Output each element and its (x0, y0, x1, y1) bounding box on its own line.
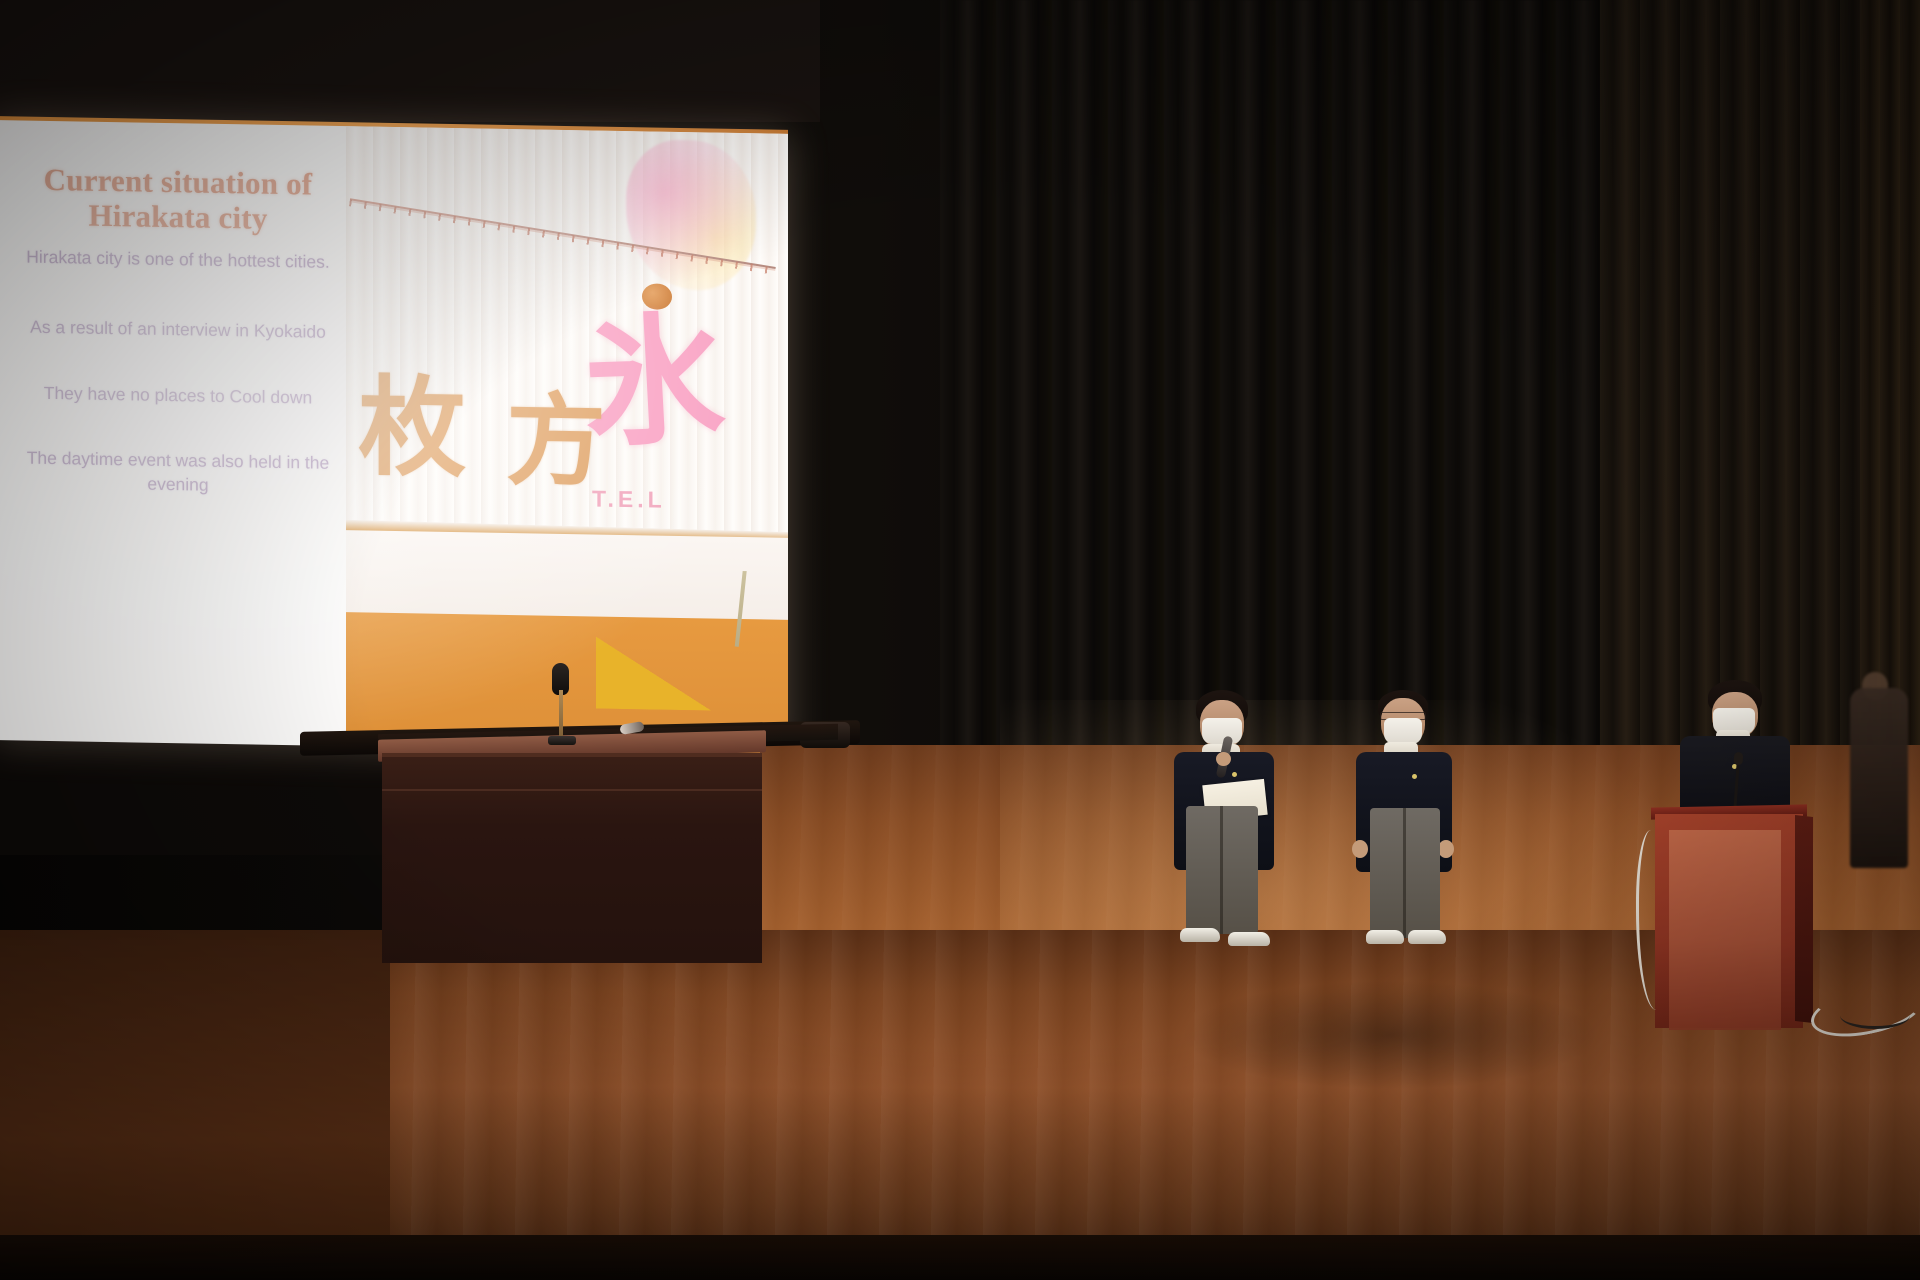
lapel-badge (1412, 774, 1417, 779)
slide-paragraph-2: As a result of an interview in Kyokaido (2, 315, 354, 345)
presenter-1-trousers (1186, 806, 1258, 934)
hand (1352, 840, 1368, 858)
lapel-badge (1232, 772, 1237, 777)
kanji-character-hira: 枚 (358, 374, 466, 484)
presenter-1-shoe-right (1228, 932, 1270, 946)
slide-title-line1: Current situation of (44, 162, 313, 202)
background-figure (1850, 688, 1908, 868)
floor-cable-dark (1840, 1002, 1910, 1029)
lectern-panel (1669, 830, 1781, 1030)
presenter-2-trousers (1370, 808, 1440, 938)
lectern (1655, 806, 1803, 1028)
slide-paragraph-1: Hirakata city is one of the hottest citi… (2, 246, 354, 276)
trouser-seam (1220, 806, 1223, 934)
lectern-cable (1636, 830, 1673, 1010)
face-mask (1384, 718, 1422, 744)
presenter-1-shoe-left (1180, 928, 1220, 942)
slide-title-line2: Hirakata city (88, 197, 267, 235)
stage-floor-left-shadow (0, 930, 390, 1280)
kanji-character-kata: 方 (506, 391, 606, 493)
slide-surface: 氷 枚 方 T.E.L Current situation of (0, 120, 788, 754)
parasol (596, 569, 788, 713)
table-body (382, 753, 762, 963)
cast-shadow (1180, 980, 1600, 1090)
phone-label: T.E.L (592, 485, 666, 513)
microphone-stem (559, 690, 563, 738)
trouser-seam (1403, 808, 1406, 938)
presenter-table (378, 735, 766, 970)
stage-front-edge (0, 1235, 1920, 1280)
projection-screen: 氷 枚 方 T.E.L Current situation of (0, 120, 788, 754)
presenter-2-shoe-left (1366, 930, 1404, 944)
slide-paragraph-3: They have no places to Cool down (2, 381, 354, 411)
lectern-side (1795, 815, 1813, 1023)
slide-title: Current situation of Hirakata city (2, 162, 354, 238)
slide-paragraph-4: The daytime event was also held in the e… (2, 446, 354, 499)
parasol-segment (596, 569, 788, 713)
upper-dark-wall (0, 0, 820, 122)
microphone-base (548, 736, 576, 745)
stage-scene: 氷 枚 方 T.E.L Current situation of (0, 0, 1920, 1280)
presenter-2-shoe-right (1408, 930, 1446, 944)
desk-microphone-icon (546, 659, 576, 745)
face-mask (1202, 718, 1242, 744)
lectern-face (1655, 814, 1803, 1028)
hand (1438, 840, 1454, 858)
slide-text-column: Current situation of Hirakata city Hirak… (2, 162, 354, 534)
hand (1216, 752, 1231, 766)
